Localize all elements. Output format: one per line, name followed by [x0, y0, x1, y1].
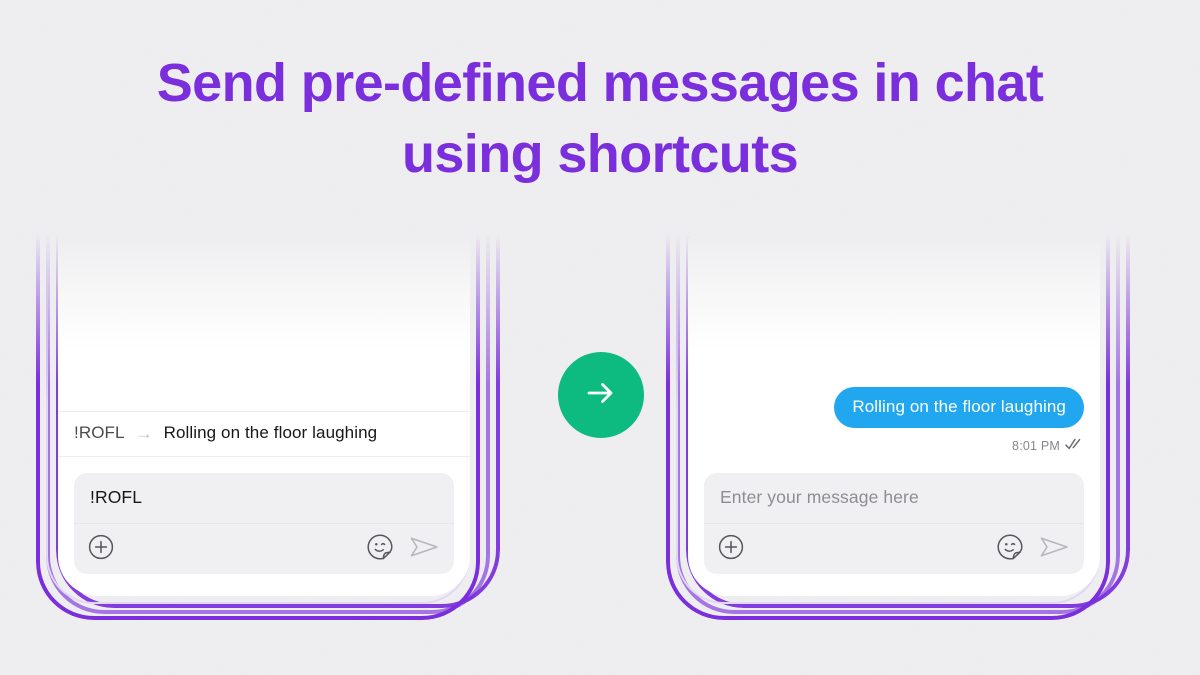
arrow-right-icon: → [135, 425, 154, 442]
message-input[interactable]: !ROFL [74, 473, 454, 524]
sticker-wink-icon[interactable] [996, 533, 1024, 566]
message-composer-after: Enter your message here [704, 473, 1084, 574]
message-meta: 8:01 PM [1012, 437, 1082, 455]
shortcut-suggestion-row[interactable]: !ROFL → Rolling on the floor laughing [58, 411, 470, 457]
send-icon[interactable] [408, 533, 440, 566]
page-title: Send pre-defined messages in chat using … [0, 48, 1200, 191]
sticker-wink-icon[interactable] [366, 533, 394, 566]
shortcut-key: !ROFL [74, 423, 125, 443]
arrow-right-icon [580, 372, 622, 419]
phone-screen-before: !ROFL → Rolling on the floor laughing !R… [58, 238, 470, 596]
message-composer-before: !ROFL [74, 473, 454, 574]
transition-arrow-badge [558, 352, 644, 438]
chat-message-outgoing: Rolling on the floor laughing 8:01 PM [688, 387, 1100, 455]
message-input-placeholder[interactable]: Enter your message here [704, 473, 1084, 524]
plus-circle-icon[interactable] [718, 534, 744, 565]
send-icon[interactable] [1038, 533, 1070, 566]
composer-action-bar [704, 524, 1084, 574]
message-bubble[interactable]: Rolling on the floor laughing [834, 387, 1084, 428]
plus-circle-icon[interactable] [88, 534, 114, 565]
composer-action-bar [74, 524, 454, 574]
double-check-icon [1065, 437, 1082, 455]
page-title-line-1: Send pre-defined messages in chat [0, 48, 1200, 119]
message-timestamp: 8:01 PM [1012, 439, 1060, 453]
page-title-line-2: using shortcuts [0, 119, 1200, 190]
shortcut-expansion-text: Rolling on the floor laughing [164, 423, 378, 443]
phone-mockup-after: Rolling on the floor laughing 8:01 PM En… [666, 238, 1110, 620]
phone-mockup-before: !ROFL → Rolling on the floor laughing !R… [36, 238, 480, 620]
phone-screen-after: Rolling on the floor laughing 8:01 PM En… [688, 238, 1100, 596]
